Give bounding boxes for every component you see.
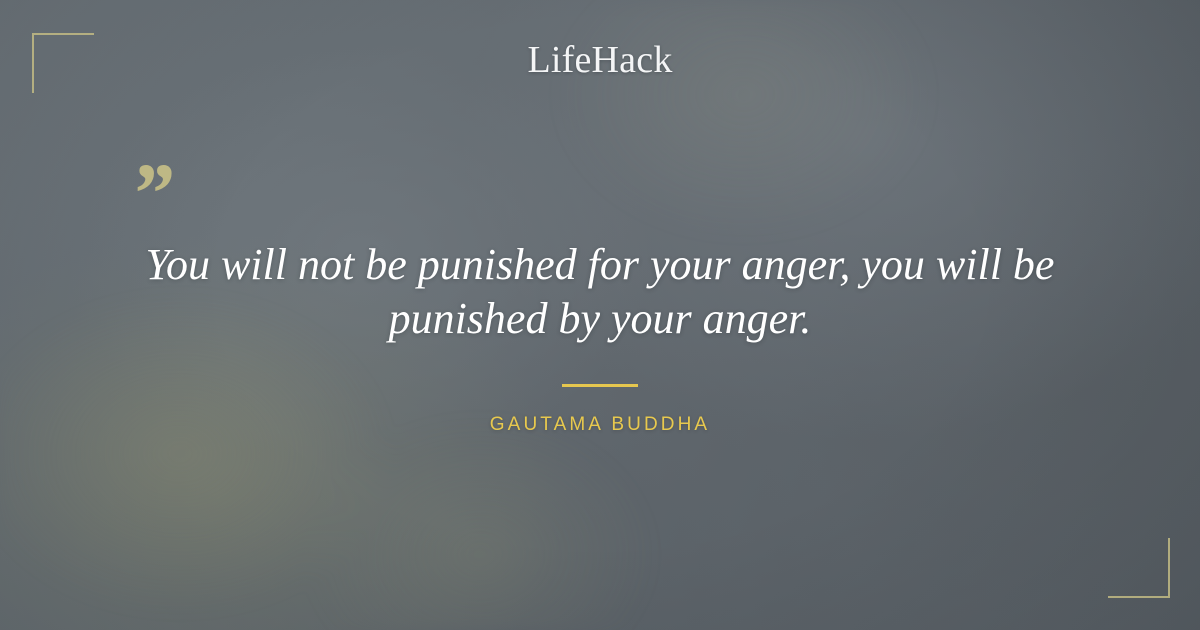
quotation-mark-icon: ” xyxy=(130,150,173,236)
quote-body: You will not be punished for your anger,… xyxy=(140,238,1060,346)
corner-bracket-bottom-right-icon xyxy=(1108,538,1170,598)
quote-author: GAUTAMA BUDDHA xyxy=(0,414,1200,436)
quote-card: LifeHack ” You will not be punished for … xyxy=(0,0,1200,630)
divider-container xyxy=(0,384,1200,387)
brand-logo[interactable]: LifeHack xyxy=(0,38,1200,82)
gold-divider xyxy=(562,384,638,387)
